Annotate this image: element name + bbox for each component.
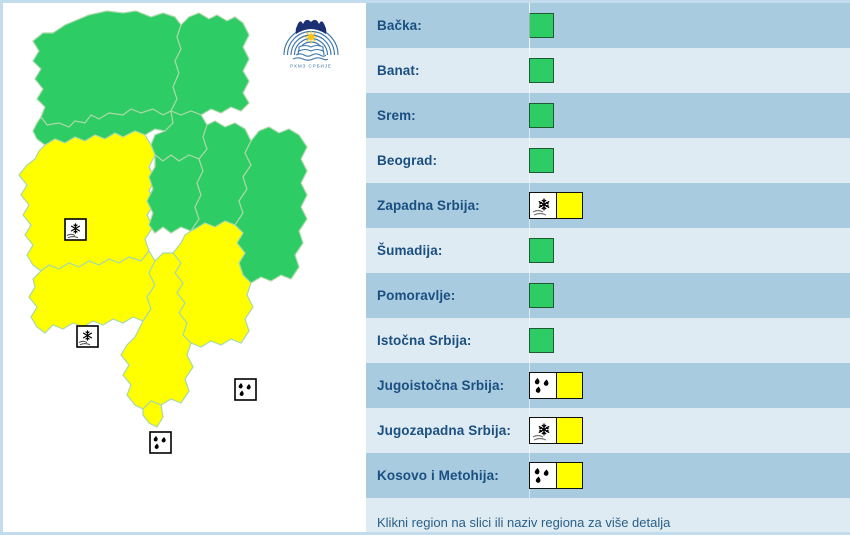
footnote-row: Klikni region na slici ili naziv regiona… [366,498,850,535]
logo-sun-icon [308,34,315,41]
region-status [529,318,554,363]
region-label[interactable]: Jugozapadna Srbija: [366,423,517,438]
region-label[interactable]: Kosovo i Metohija: [366,468,517,483]
status-badge-warning[interactable] [529,192,583,219]
map-panel: РХМЗ СРБИЈЕ [0,0,366,535]
rain-drops-icon [530,373,557,398]
logo-book-icon [299,46,323,52]
region-status [529,138,554,183]
map-region-istocna-srbija[interactable] [235,127,307,283]
status-badge-green[interactable] [529,238,554,263]
snow-wind-icon [530,418,557,443]
status-badge-green[interactable] [529,103,554,128]
weather-warning-page: РХМЗ СРБИЈЕ Bačka: Banat: Srem: Beograd:… [0,0,850,535]
region-status [529,93,554,138]
warning-level-swatch [557,193,582,218]
region-status [529,183,583,228]
warning-level-swatch [557,418,582,443]
serbia-map[interactable] [3,3,366,535]
region-row[interactable]: Kosovo i Metohija: [366,453,850,498]
status-badge-warning[interactable] [529,462,583,489]
region-row[interactable]: Zapadna Srbija: [366,183,850,228]
region-label[interactable]: Bačka: [366,18,517,33]
region-rows: Bačka: Banat: Srem: Beograd: Zapadna Srb… [366,3,850,498]
map-icon-snow-zapadna [65,219,86,240]
rhmz-serbia-logo: РХМЗ СРБИЈЕ [280,7,342,73]
snow-wind-icon [530,193,557,218]
map-region-banat[interactable] [171,13,249,115]
region-row[interactable]: Bačka: [366,3,850,48]
warning-level-swatch [557,463,582,488]
status-badge-green[interactable] [529,283,554,308]
region-row[interactable]: Beograd: [366,138,850,183]
status-badge-green[interactable] [529,148,554,173]
region-row[interactable]: Pomoravlje: [366,273,850,318]
region-label[interactable]: Šumadija: [366,243,517,258]
region-label[interactable]: Srem: [366,108,517,123]
region-label[interactable]: Beograd: [366,153,517,168]
region-status [529,3,554,48]
status-badge-green[interactable] [529,13,554,38]
rain-drops-icon [530,463,557,488]
region-label[interactable]: Zapadna Srbija: [366,198,517,213]
region-status [529,48,554,93]
map-region-backa[interactable] [33,11,181,127]
footnote-text: Klikni region na slici ili naziv regiona… [366,515,670,530]
region-row[interactable]: Šumadija: [366,228,850,273]
region-status [529,408,583,453]
region-status [529,363,583,408]
map-icon-rain-jugoistocna [235,379,256,400]
logo-caption: РХМЗ СРБИЈЕ [290,64,332,69]
region-row[interactable]: Jugoistočna Srbija: [366,363,850,408]
region-label[interactable]: Banat: [366,63,517,78]
region-row[interactable]: Banat: [366,48,850,93]
region-label[interactable]: Istočna Srbija: [366,333,517,348]
region-status [529,273,554,318]
region-status [529,228,554,273]
status-badge-warning[interactable] [529,372,583,399]
map-region-zapadna-srbija[interactable] [19,131,155,271]
region-status [529,453,583,498]
status-badge-green[interactable] [529,328,554,353]
status-badge-green[interactable] [529,58,554,83]
region-row[interactable]: Jugozapadna Srbija: [366,408,850,453]
region-row[interactable]: Srem: [366,93,850,138]
column-divider [529,3,530,51]
region-label[interactable]: Jugoistočna Srbija: [366,378,517,393]
map-region-sumadija[interactable] [147,155,203,233]
map-icon-snow-jugozapadna [77,326,98,347]
warning-level-swatch [557,373,582,398]
status-badge-warning[interactable] [529,417,583,444]
region-row[interactable]: Istočna Srbija: [366,318,850,363]
map-icon-rain-kosovo [150,432,171,453]
region-label[interactable]: Pomoravlje: [366,288,517,303]
region-list-panel: Bačka: Banat: Srem: Beograd: Zapadna Srb… [366,0,850,535]
